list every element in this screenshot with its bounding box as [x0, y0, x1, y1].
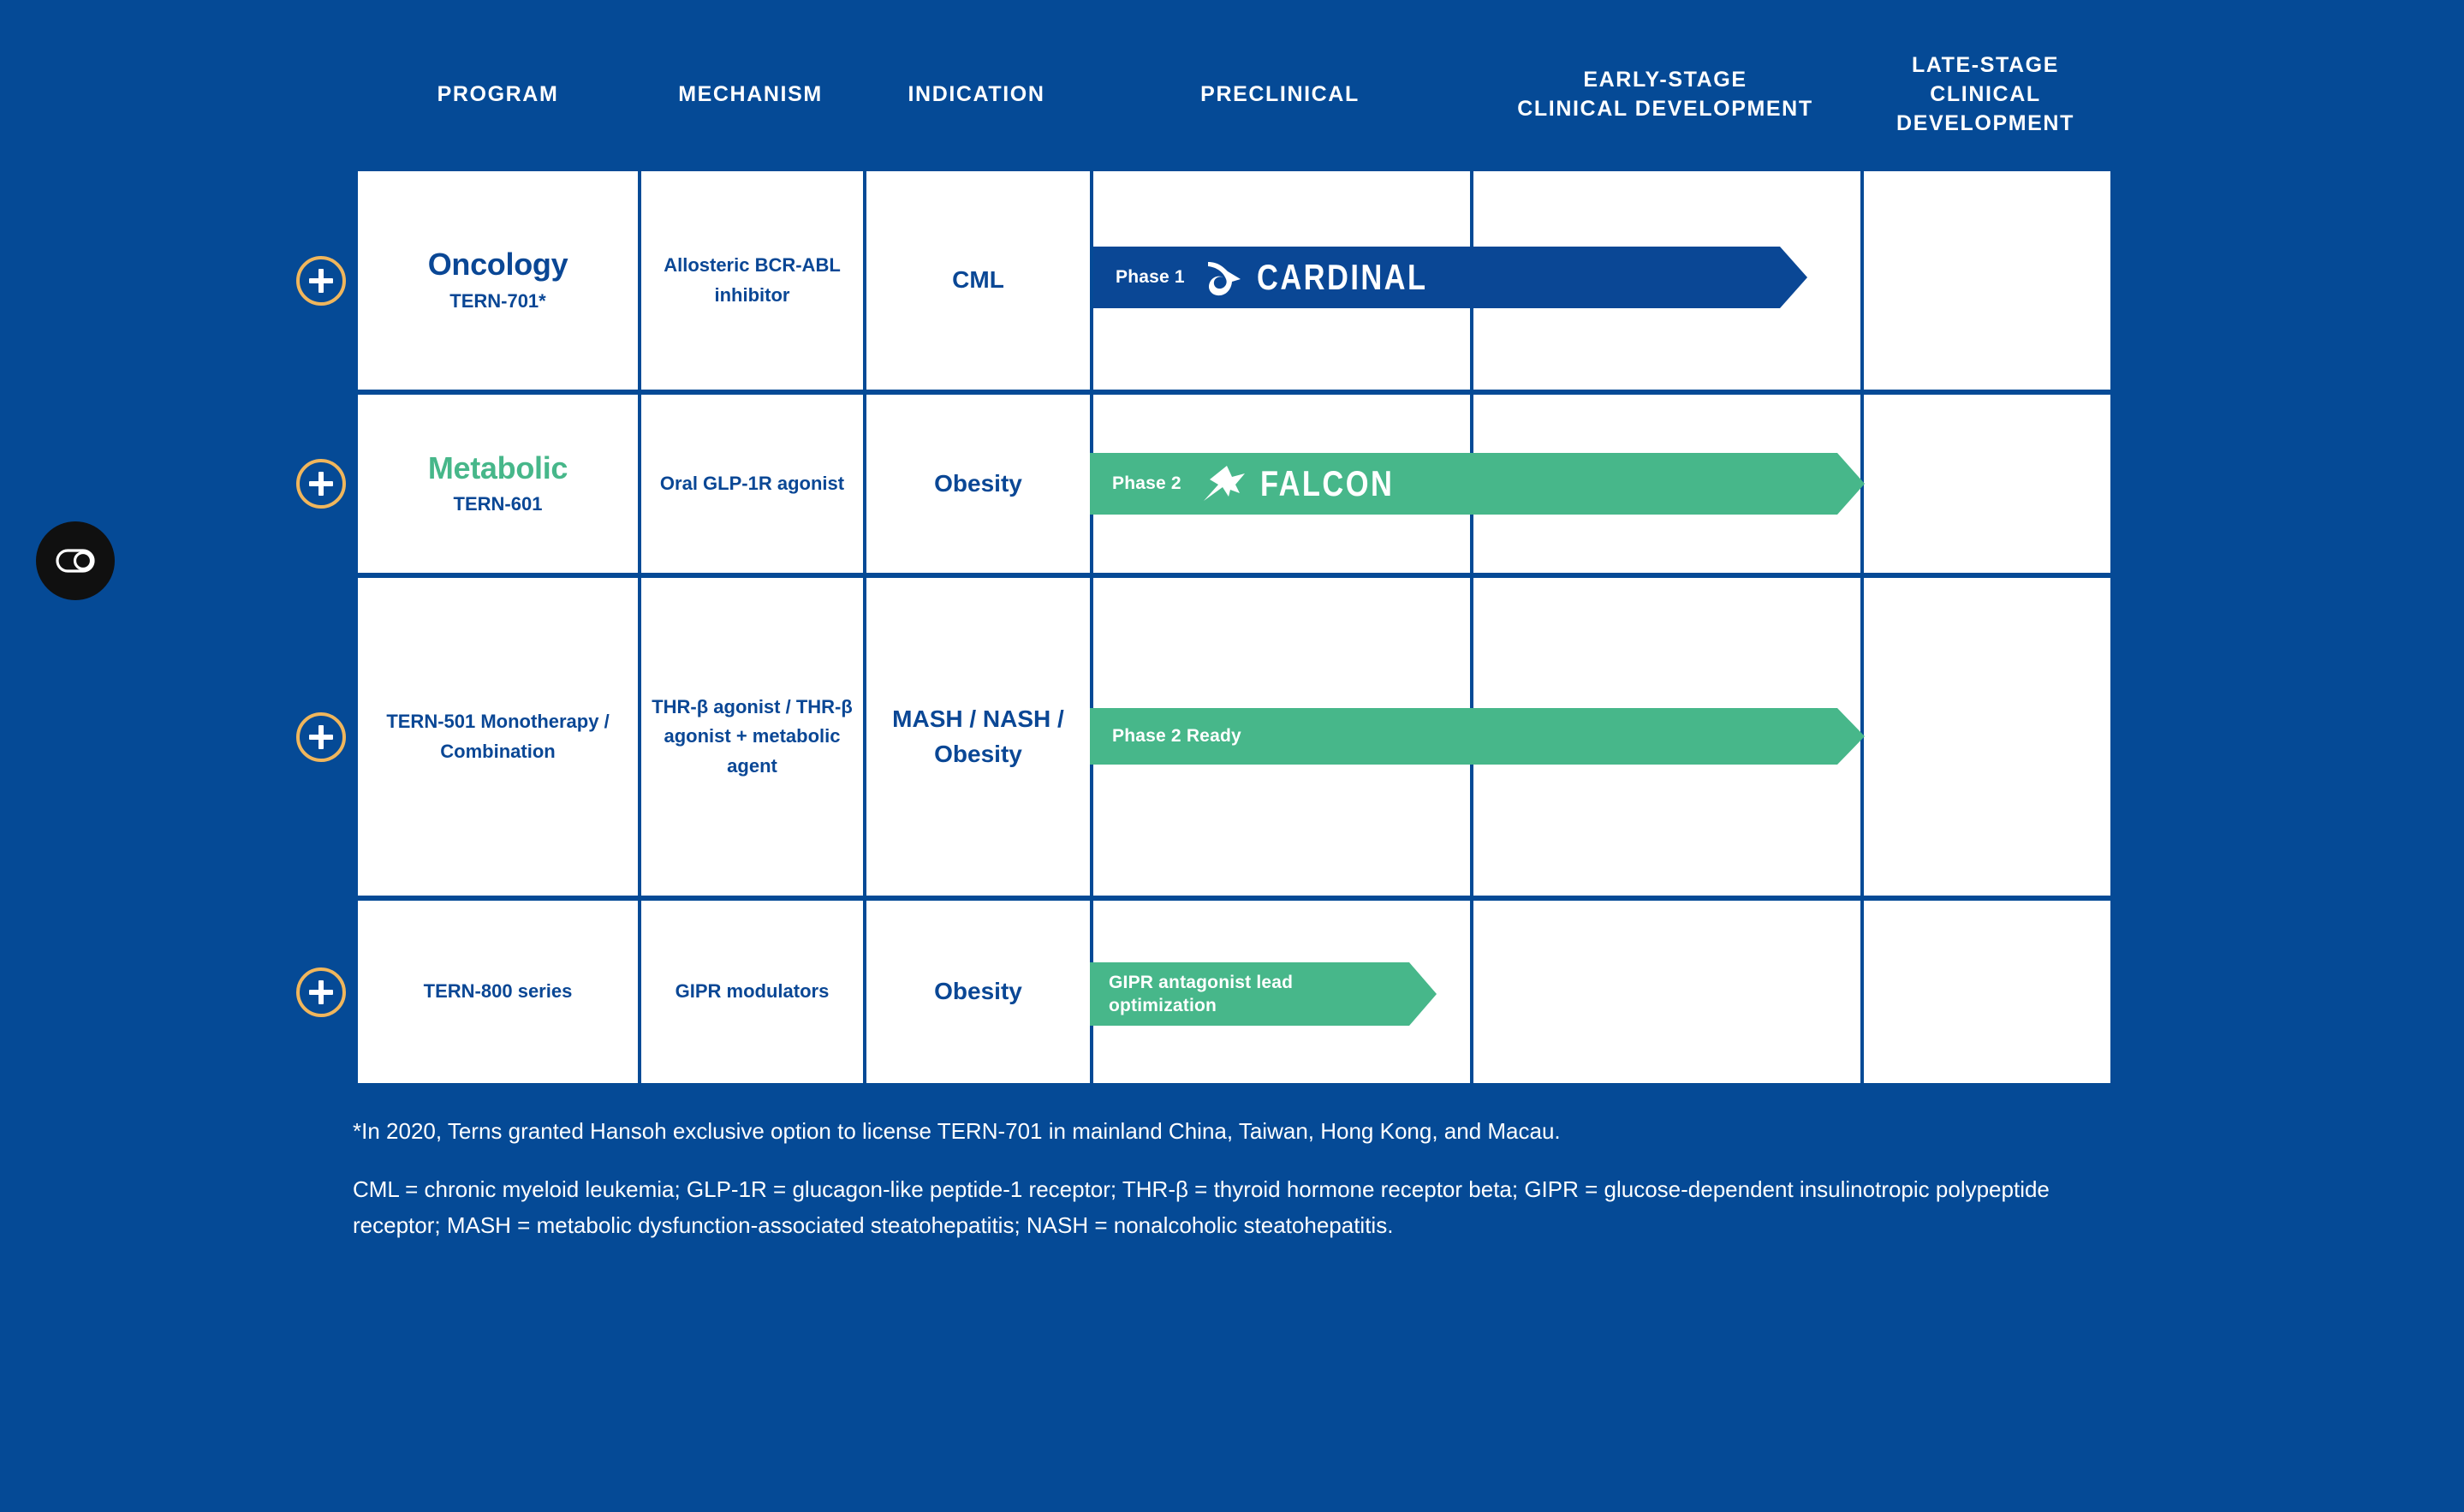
cell-early-stage [1470, 901, 1860, 1083]
accessibility-toggle-button[interactable] [36, 521, 115, 600]
trial-name-label: FALCON [1260, 463, 1394, 504]
table-body: Oncology TERN-701* Allosteric BCR-ABL in… [358, 171, 2110, 1083]
column-header-preclinical: PRECLINICAL [1090, 17, 1470, 171]
program-name-label: TERN-701* [449, 287, 545, 315]
indication-label: CML [942, 263, 1015, 298]
trial-logo-cardinal: CARDINAL [1205, 257, 1465, 298]
cell-late-stage [1860, 171, 2110, 390]
pipeline-page: PROGRAM MECHANISM INDICATION PRECLINICAL… [0, 0, 2464, 1512]
phase-label: Phase 2 Ready [1112, 726, 1241, 747]
table-row: Oncology TERN-701* Allosteric BCR-ABL in… [358, 171, 2110, 390]
toggle-switch-icon [56, 549, 95, 573]
cell-mechanism: Oral GLP-1R agonist [638, 395, 863, 573]
cell-indication: Obesity [863, 395, 1090, 573]
expand-row-button-tern-501[interactable] [296, 712, 346, 762]
indication-label: MASH / NASH / Obesity [866, 702, 1090, 771]
footnote-abbreviations: CML = chronic myeloid leukemia; GLP-1R =… [353, 1171, 2116, 1243]
phase-bar-gipr-lead-optimization[interactable]: GIPR antagonist lead optimization [1090, 962, 1437, 1026]
pipeline-table: PROGRAM MECHANISM INDICATION PRECLINICAL… [358, 17, 2110, 1083]
phase-bar-falcon[interactable]: Phase 2 FALCON [1090, 453, 1865, 515]
plus-icon-vertical [318, 725, 324, 749]
indication-label: Obesity [924, 467, 1033, 502]
phase-bar-phase-2-ready[interactable]: Phase 2 Ready [1090, 708, 1865, 765]
table-row: TERN-800 series GIPR modulators Obesity … [358, 901, 2110, 1083]
phase-label: GIPR antagonist lead optimization [1109, 971, 1306, 1018]
cell-indication: CML [863, 171, 1090, 390]
phase-bar-cardinal[interactable]: Phase 1 CARDINAL [1093, 247, 1807, 308]
phase-label: Phase 1 [1116, 267, 1185, 288]
program-name-label: TERN-601 [454, 490, 543, 518]
mechanism-label: THR-β agonist / THR-β agonist + metaboli… [641, 693, 863, 780]
program-area-label: Metabolic [428, 449, 568, 486]
trial-name-label: CARDINAL [1257, 257, 1428, 298]
plus-icon-vertical [318, 980, 324, 1004]
column-header-early-line-1: EARLY-STAGE [1517, 65, 1812, 94]
mechanism-label: Allosteric BCR-ABL inhibitor [641, 251, 863, 309]
column-header-early-line-2: CLINICAL DEVELOPMENT [1517, 94, 1812, 123]
mechanism-label: GIPR modulators [665, 977, 840, 1006]
expand-row-button-tern-601[interactable] [296, 459, 346, 509]
expand-row-button-tern-701[interactable] [296, 256, 346, 306]
cell-indication: Obesity [863, 901, 1090, 1083]
program-name-label: TERN-800 series [414, 977, 583, 1006]
table-row: TERN-501 Monotherapy / Combination THR-β… [358, 578, 2110, 896]
expand-row-button-tern-800[interactable] [296, 967, 346, 1017]
trial-logo-falcon: FALCON [1202, 463, 1424, 504]
cardinal-bird-icon [1205, 257, 1243, 298]
cell-mechanism: Allosteric BCR-ABL inhibitor [638, 171, 863, 390]
footnotes: *In 2020, Terns granted Hansoh exclusive… [353, 1113, 2116, 1243]
cell-program: TERN-501 Monotherapy / Combination [358, 578, 638, 896]
cell-program: Oncology TERN-701* [358, 171, 638, 390]
program-name-label: TERN-501 Monotherapy / Combination [358, 707, 638, 765]
column-header-late-line-1: LATE-STAGE [1896, 51, 2074, 80]
cell-late-stage [1860, 901, 2110, 1083]
cell-mechanism: GIPR modulators [638, 901, 863, 1083]
plus-icon-vertical [318, 472, 324, 496]
table-header-row: PROGRAM MECHANISM INDICATION PRECLINICAL… [358, 17, 2110, 171]
footnote-license: *In 2020, Terns granted Hansoh exclusive… [353, 1113, 2116, 1149]
cell-program: TERN-800 series [358, 901, 638, 1083]
column-header-late-line-3: DEVELOPMENT [1896, 109, 2074, 138]
column-header-indication: INDICATION [863, 17, 1090, 171]
column-header-late-stage: LATE-STAGE CLINICAL DEVELOPMENT [1860, 17, 2110, 171]
cell-program: Metabolic TERN-601 [358, 395, 638, 573]
cell-mechanism: THR-β agonist / THR-β agonist + metaboli… [638, 578, 863, 896]
indication-label: Obesity [924, 974, 1033, 1009]
column-header-mechanism: MECHANISM [638, 17, 863, 171]
column-header-late-line-2: CLINICAL [1896, 80, 2074, 109]
cell-late-stage [1860, 395, 2110, 573]
program-area-label: Oncology [428, 246, 568, 283]
cell-late-stage [1860, 578, 2110, 896]
falcon-bird-icon [1202, 464, 1247, 503]
phase-label: Phase 2 [1112, 473, 1181, 494]
mechanism-label: Oral GLP-1R agonist [650, 469, 854, 498]
plus-icon-vertical [318, 269, 324, 293]
column-header-program: PROGRAM [358, 17, 638, 171]
column-header-early-stage: EARLY-STAGE CLINICAL DEVELOPMENT [1470, 17, 1860, 171]
cell-indication: MASH / NASH / Obesity [863, 578, 1090, 896]
table-row: Metabolic TERN-601 Oral GLP-1R agonist O… [358, 395, 2110, 573]
